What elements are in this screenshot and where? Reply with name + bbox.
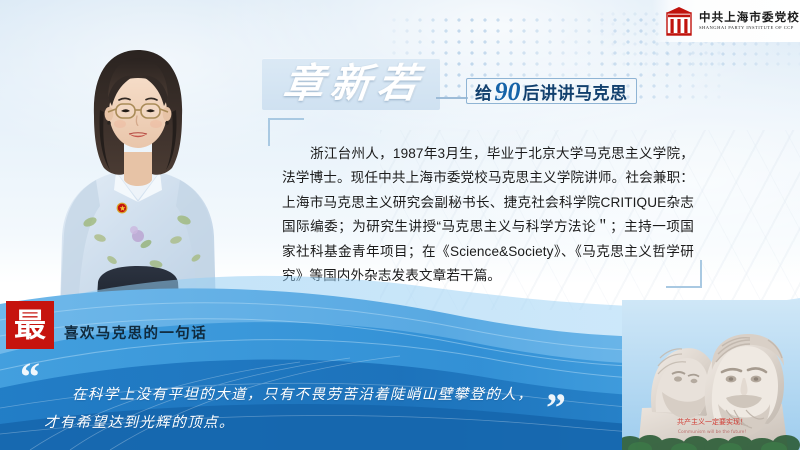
institute-name-cn: 中共上海市委党校 — [699, 12, 800, 24]
most-liked-badge: 最 — [6, 301, 54, 349]
institute-name-en: SHANGHAI PARTY INSTITUTE OF CCP — [699, 26, 800, 31]
subtitle-prefix: 给 — [475, 79, 493, 104]
subtitle-number: 90 — [493, 79, 523, 105]
institute-logo-bar: 中共上海市委党校 SHANGHAI PARTY INSTITUTE OF CCP — [652, 0, 800, 42]
favorite-quote: 在科学上没有平坦的大道，只有不畏劳苦沿着陡峭山壁攀登的人，才有希望达到光辉的顶点… — [44, 381, 534, 437]
subtitle-suffix: 后讲讲马克思 — [523, 79, 628, 104]
title-divider-rule — [436, 97, 468, 99]
marx-engels-monument-sculpture: 共产主义一定要实现！ Communism will be the future! — [622, 300, 800, 450]
badge-character: 最 — [14, 309, 46, 341]
svg-text:Communism will be the future!: Communism will be the future! — [678, 429, 746, 435]
gate-archway-icon — [666, 6, 692, 36]
slide-canvas: 中共上海市委党校 SHANGHAI PARTY INSTITUTE OF CCP — [0, 0, 800, 450]
close-quote-icon: ” — [546, 388, 566, 428]
subtitle-box: 给 90 后讲讲马克思 — [466, 78, 637, 104]
quote-section-heading: 喜欢马克思的一句话 — [64, 322, 207, 343]
open-quote-icon: “ — [20, 357, 40, 397]
institute-logo-text: 中共上海市委党校 SHANGHAI PARTY INSTITUTE OF CCP — [699, 12, 800, 31]
speaker-name: 章新若 — [267, 57, 442, 111]
svg-text:共产主义一定要实现！: 共产主义一定要实现！ — [677, 417, 747, 426]
